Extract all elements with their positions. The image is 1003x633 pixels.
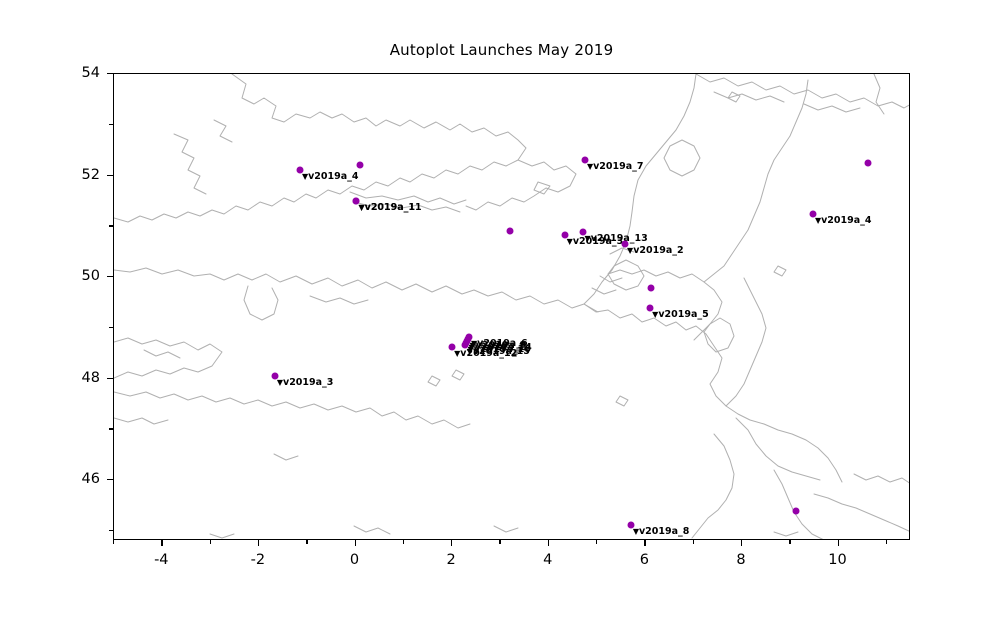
y-axis-tick-label: 52 [82, 167, 100, 183]
y-axis-tick [107, 175, 113, 176]
data-point-label: ▼v2019a_4 [815, 215, 872, 226]
data-point-label: ▼v2019a_5 [652, 309, 709, 320]
data-point-label-text: v2019a_4 [821, 215, 871, 226]
data-point-label-text: v2019a_2 [633, 245, 683, 256]
x-axis-minor-tick [306, 540, 307, 544]
data-point-label: ▼v2019a_4 [302, 171, 359, 182]
coastline-map [114, 74, 910, 540]
data-point-label: ▼v2019a_2 [627, 245, 684, 256]
data-point-label-text: v2019a_13 [591, 233, 648, 244]
x-axis-minor-tick [596, 540, 597, 544]
y-axis-minor-tick [109, 225, 113, 226]
data-point-label: ▼v2019a_13 [585, 233, 648, 244]
x-axis-tick-label: 10 [828, 552, 846, 568]
y-axis-minor-tick [109, 530, 113, 531]
y-axis-tick-label: 48 [82, 370, 100, 386]
y-axis-minor-tick [109, 124, 113, 125]
x-axis-minor-tick [403, 540, 404, 544]
x-axis-tick-label: 4 [543, 552, 552, 568]
data-point[interactable] [507, 228, 514, 235]
data-point-label-text: v2019a_3 [283, 377, 333, 388]
x-axis-tick-label: 0 [350, 552, 359, 568]
data-point-label: ▼v2019a_1 [358, 202, 415, 213]
data-point-label-text: v2019a_1 [365, 202, 415, 213]
y-axis-tick [107, 378, 113, 379]
x-axis-tick-label: 8 [736, 552, 745, 568]
data-point-label-text: v2019a_15 [473, 346, 530, 357]
data-point-label: ▼v2019a_8 [633, 526, 690, 537]
x-axis-tick-label: -4 [154, 552, 168, 568]
x-axis-minor-tick [789, 540, 790, 544]
y-axis-tick-label: 54 [82, 65, 100, 81]
x-axis-tick [355, 540, 356, 546]
y-axis-tick [107, 276, 113, 277]
data-point-label-text: v2019a_5 [658, 309, 708, 320]
data-point[interactable] [357, 162, 364, 169]
x-axis-tick-label: 6 [640, 552, 649, 568]
x-axis-tick [644, 540, 645, 546]
x-axis-minor-tick [886, 540, 887, 544]
x-axis-tick [548, 540, 549, 546]
x-axis-tick [258, 540, 259, 546]
x-axis-minor-tick [499, 540, 500, 544]
x-axis-tick [741, 540, 742, 546]
data-point[interactable] [865, 159, 872, 166]
x-axis-minor-tick [693, 540, 694, 544]
x-axis-minor-tick [113, 540, 114, 544]
y-axis-tick [107, 479, 113, 480]
x-axis-tick-label: 2 [446, 552, 455, 568]
data-point-label: ▼v2019a_15 [467, 346, 530, 357]
y-axis-tick-label: 50 [82, 268, 100, 284]
x-axis-tick-label: -2 [251, 552, 265, 568]
plot-area[interactable]: ▼v2019a_4▼v2019a_11▼v2019a_1▼v2019a_7▼v2… [113, 73, 910, 540]
figure-canvas: Autoplot Launches May 2019 [0, 0, 1003, 633]
y-axis-tick-label: 46 [82, 471, 100, 487]
y-axis-minor-tick [109, 327, 113, 328]
data-point-label: ▼v2019a_7 [587, 161, 644, 172]
y-axis-tick [107, 73, 113, 74]
x-axis-tick [838, 540, 839, 546]
data-point[interactable] [648, 285, 655, 292]
data-point-label-text: v2019a_7 [593, 161, 643, 172]
data-point-label: ▼v2019a_3 [277, 377, 334, 388]
chart-title: Autoplot Launches May 2019 [0, 41, 1003, 59]
data-point-label-text: v2019a_4 [308, 171, 358, 182]
x-axis-tick [161, 540, 162, 546]
x-axis-tick [451, 540, 452, 546]
x-axis-minor-tick [210, 540, 211, 544]
data-point-label-text: v2019a_8 [639, 526, 689, 537]
data-point[interactable] [793, 507, 800, 514]
y-axis-minor-tick [109, 428, 113, 429]
